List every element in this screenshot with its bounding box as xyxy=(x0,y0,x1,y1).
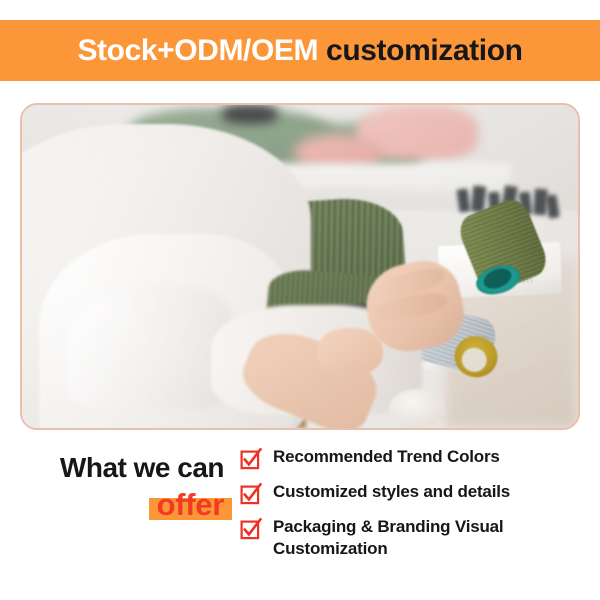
feature-list: Recommended Trend Colors Customized styl… xyxy=(240,446,588,560)
offer-section: What we can offer Recommended Trend Colo… xyxy=(0,440,600,600)
header-title: Stock+ODM/OEM customization xyxy=(77,36,522,66)
feature-item: Customized styles and details xyxy=(240,481,588,505)
hero-photo-image xyxy=(22,105,578,428)
feature-item: Recommended Trend Colors xyxy=(240,446,588,470)
check-square-icon xyxy=(240,483,262,505)
feature-label: Recommended Trend Colors xyxy=(273,446,500,468)
offer-headline: What we can offer xyxy=(28,452,224,522)
promo-banner: Stock+ODM/OEM customization xyxy=(0,0,600,600)
offer-headline-line2: offer xyxy=(157,487,224,522)
photo-vignette xyxy=(22,105,578,428)
offer-headline-line2-wrap: offer xyxy=(157,489,224,522)
check-square-icon xyxy=(240,518,262,540)
feature-label: Packaging & Branding Visual Customizatio… xyxy=(273,516,588,560)
header-title-rest: customization xyxy=(318,34,522,67)
offer-headline-line1: What we can xyxy=(28,452,224,483)
feature-item: Packaging & Branding Visual Customizatio… xyxy=(240,516,588,560)
header-title-highlight: Stock+ODM/OEM xyxy=(77,34,318,67)
header-bar: Stock+ODM/OEM customization xyxy=(0,20,600,81)
hero-photo xyxy=(22,105,578,428)
check-square-icon xyxy=(240,448,262,470)
feature-label: Customized styles and details xyxy=(273,481,510,503)
